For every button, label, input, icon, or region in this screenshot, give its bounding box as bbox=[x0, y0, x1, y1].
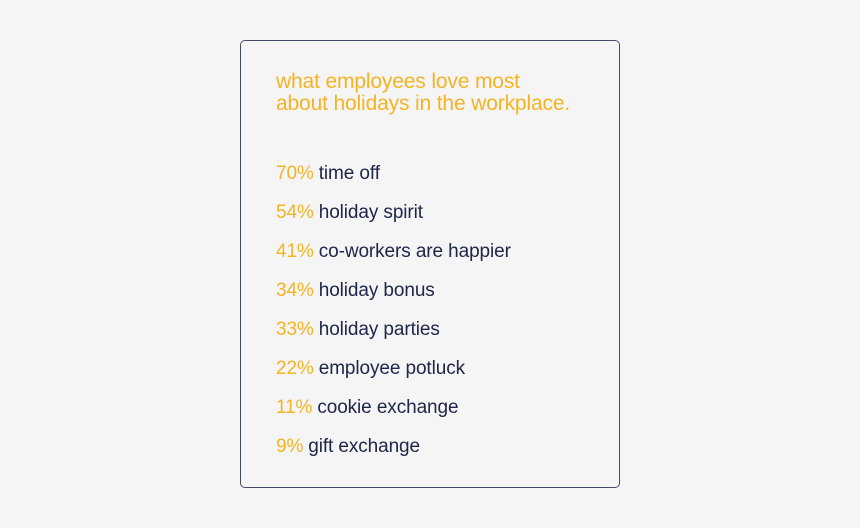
stat-label: employee potluck bbox=[319, 358, 465, 379]
stat-label: time off bbox=[319, 163, 380, 184]
stat-percent: 9% bbox=[276, 436, 303, 457]
stat-label: holiday parties bbox=[319, 319, 440, 340]
stat-label: holiday spirit bbox=[319, 202, 423, 223]
list-item: 70%time off bbox=[276, 154, 606, 193]
list-item: 34%holiday bonus bbox=[276, 271, 606, 310]
list-item: 9%gift exchange bbox=[276, 427, 606, 466]
stat-label: co-workers are happier bbox=[319, 241, 511, 262]
stats-card: what employees love most about holidays … bbox=[240, 40, 620, 488]
list-item: 11%cookie exchange bbox=[276, 388, 606, 427]
stat-label: gift exchange bbox=[308, 436, 420, 457]
stat-percent: 70% bbox=[276, 163, 314, 184]
list-item: 33%holiday parties bbox=[276, 310, 606, 349]
stats-list: 70%time off 54%holiday spirit 41%co-work… bbox=[276, 154, 606, 466]
stat-percent: 41% bbox=[276, 241, 314, 262]
stat-percent: 11% bbox=[276, 397, 312, 418]
stat-percent: 54% bbox=[276, 202, 314, 223]
stat-percent: 34% bbox=[276, 280, 314, 301]
list-item: 41%co-workers are happier bbox=[276, 232, 606, 271]
page-canvas: what employees love most about holidays … bbox=[0, 0, 860, 528]
stat-label: cookie exchange bbox=[317, 397, 458, 418]
stat-percent: 33% bbox=[276, 319, 314, 340]
card-title: what employees love most about holidays … bbox=[276, 71, 596, 115]
list-item: 54%holiday spirit bbox=[276, 193, 606, 232]
stat-percent: 22% bbox=[276, 358, 314, 379]
stat-label: holiday bonus bbox=[319, 280, 435, 301]
list-item: 22%employee potluck bbox=[276, 349, 606, 388]
